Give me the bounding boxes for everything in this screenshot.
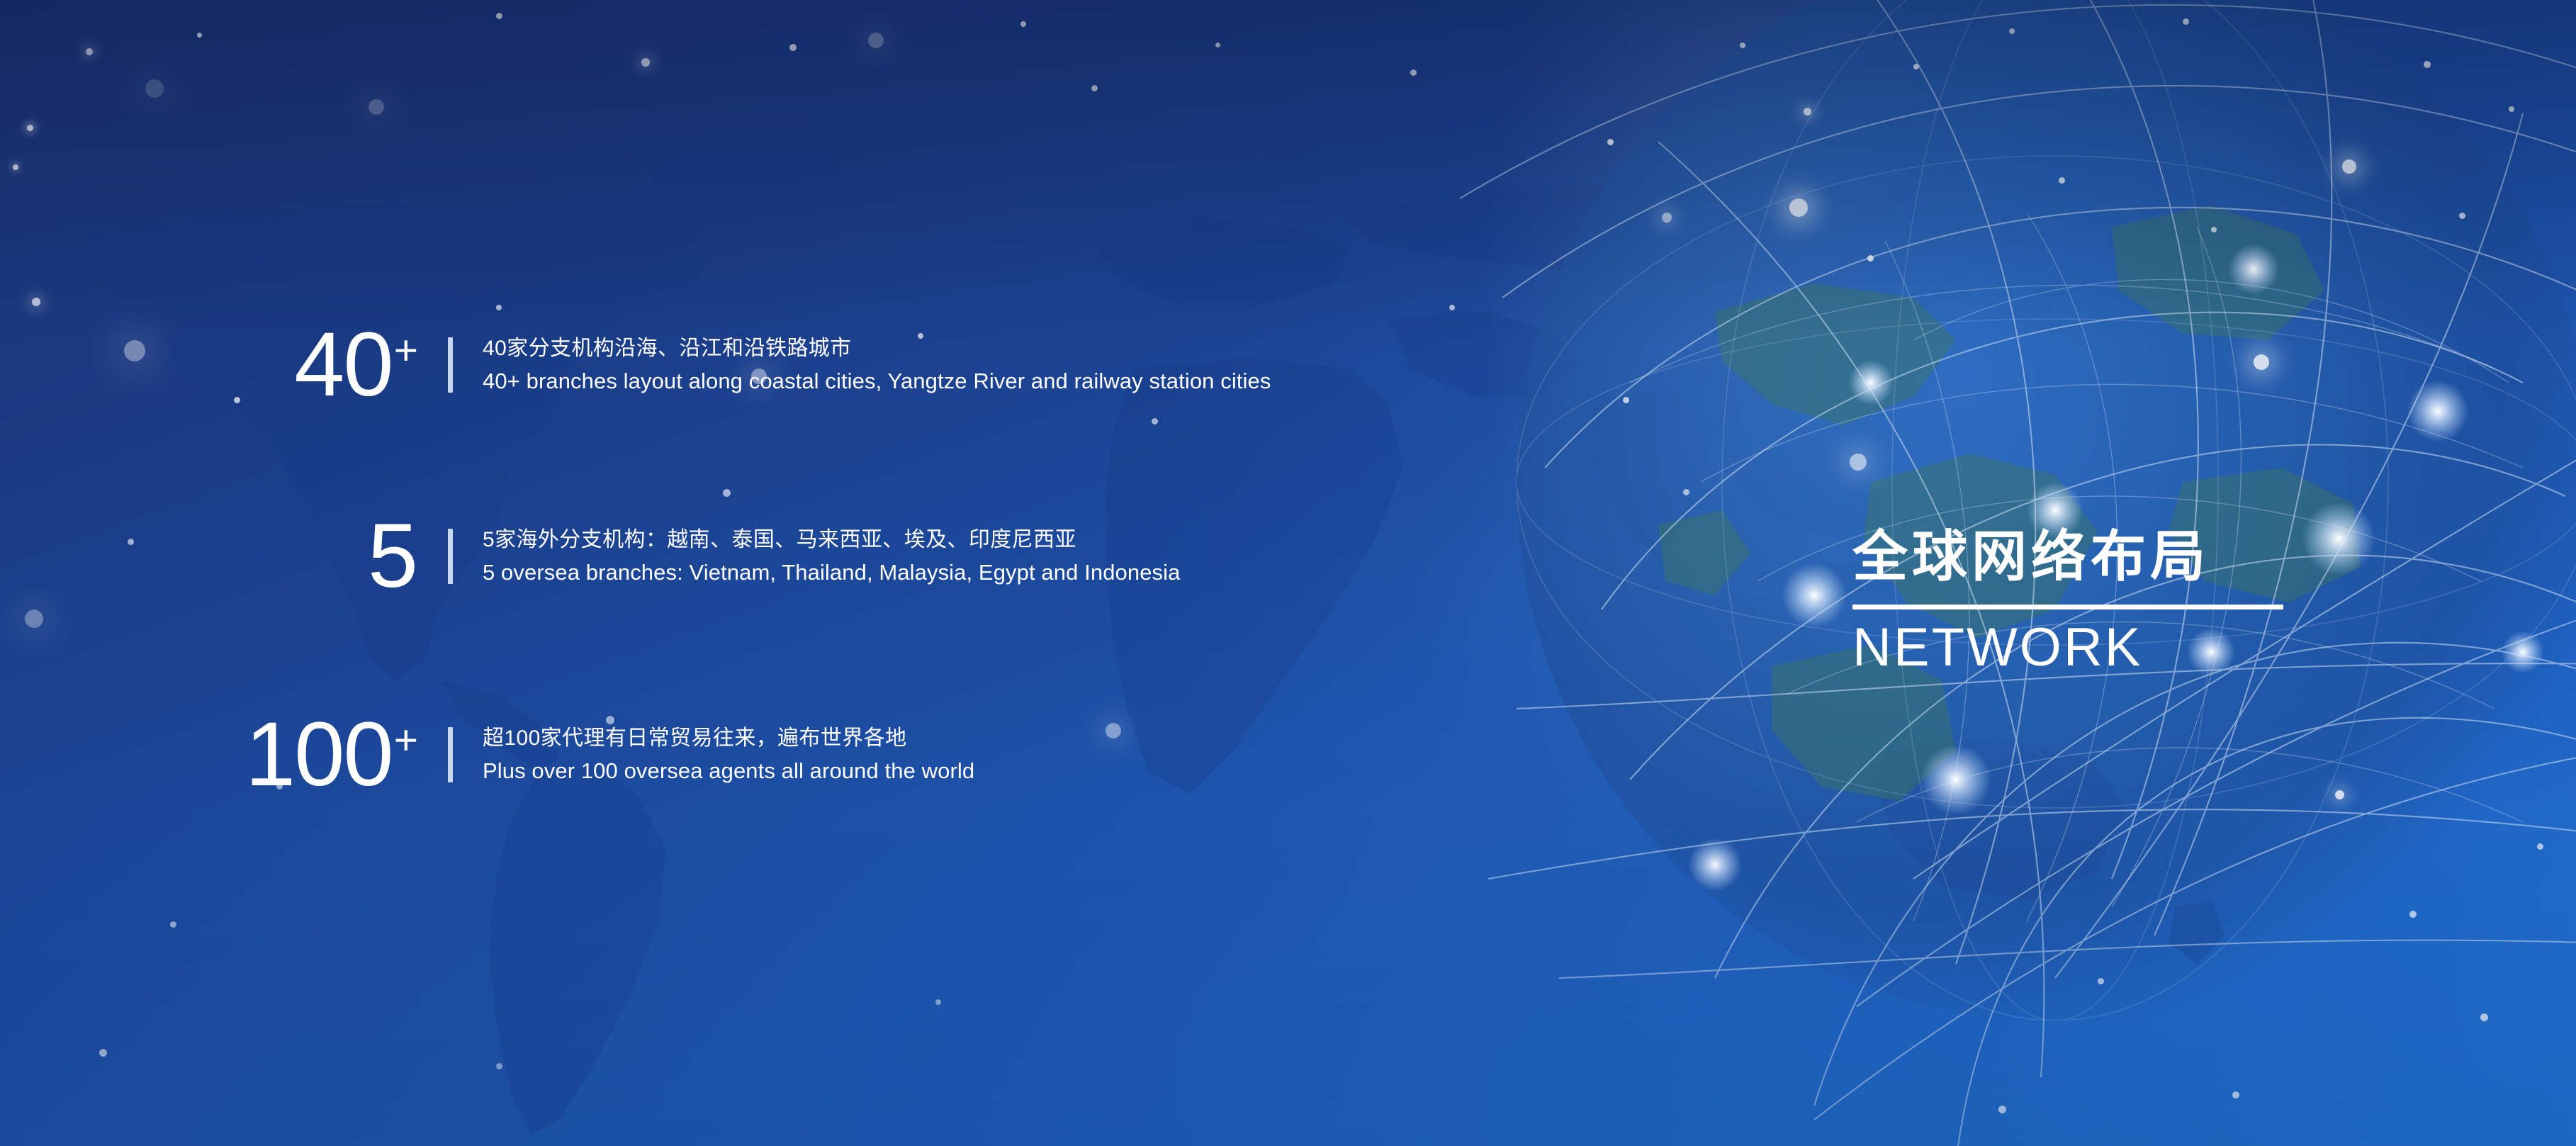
title-english: NETWORK <box>1852 619 2306 676</box>
title-divider-rule <box>1852 605 2283 609</box>
stat-text-cn: 5家海外分支机构：越南、泰国、马来西亚、埃及、印度尼西亚 <box>483 524 1180 556</box>
stat-number-100plus: 100+ <box>0 709 418 800</box>
stat-text-en: 40+ branches layout along coastal cities… <box>483 365 1271 398</box>
stat-number-suffix: + <box>394 717 418 763</box>
stat-divider <box>448 727 453 782</box>
stat-row-40plus: 40+ 40家分支机构沿海、沿江和沿铁路城市 40+ branches layo… <box>0 315 1271 415</box>
stat-divider <box>448 337 453 393</box>
stat-text-en: 5 oversea branches: Vietnam, Thailand, M… <box>483 556 1180 589</box>
stat-text-100plus: 超100家代理有日常贸易往来，遍布世界各地 Plus over 100 over… <box>483 722 974 787</box>
network-title-block: 全球网络布局 NETWORK <box>1852 528 2306 676</box>
stat-number-5: 5 <box>0 511 418 602</box>
global-network-banner: 40+ 40家分支机构沿海、沿江和沿铁路城市 40+ branches layo… <box>0 0 2576 1146</box>
stat-number-40plus: 40+ <box>0 320 418 410</box>
stat-row-100plus: 100+ 超100家代理有日常贸易往来，遍布世界各地 Plus over 100… <box>0 705 974 804</box>
stat-text-40plus: 40家分支机构沿海、沿江和沿铁路城市 40+ branches layout a… <box>483 332 1271 398</box>
stat-text-cn: 超100家代理有日常贸易往来，遍布世界各地 <box>483 722 974 755</box>
stat-number-suffix: + <box>394 327 418 373</box>
stat-text-5: 5家海外分支机构：越南、泰国、马来西亚、埃及、印度尼西亚 5 oversea b… <box>483 524 1180 589</box>
stat-number-value: 40 <box>294 314 392 415</box>
stat-number-value: 5 <box>368 505 417 607</box>
title-chinese: 全球网络布局 <box>1852 528 2306 586</box>
stat-text-en: Plus over 100 oversea agents all around … <box>483 755 974 787</box>
stat-text-cn: 40家分支机构沿海、沿江和沿铁路城市 <box>483 332 1271 365</box>
statistics-list: 40+ 40家分支机构沿海、沿江和沿铁路城市 40+ branches layo… <box>0 0 1559 1146</box>
stat-divider <box>448 529 453 584</box>
stat-row-5: 5 5家海外分支机构：越南、泰国、马来西亚、埃及、印度尼西亚 5 oversea… <box>0 507 1180 606</box>
stat-number-value: 100 <box>245 704 393 805</box>
